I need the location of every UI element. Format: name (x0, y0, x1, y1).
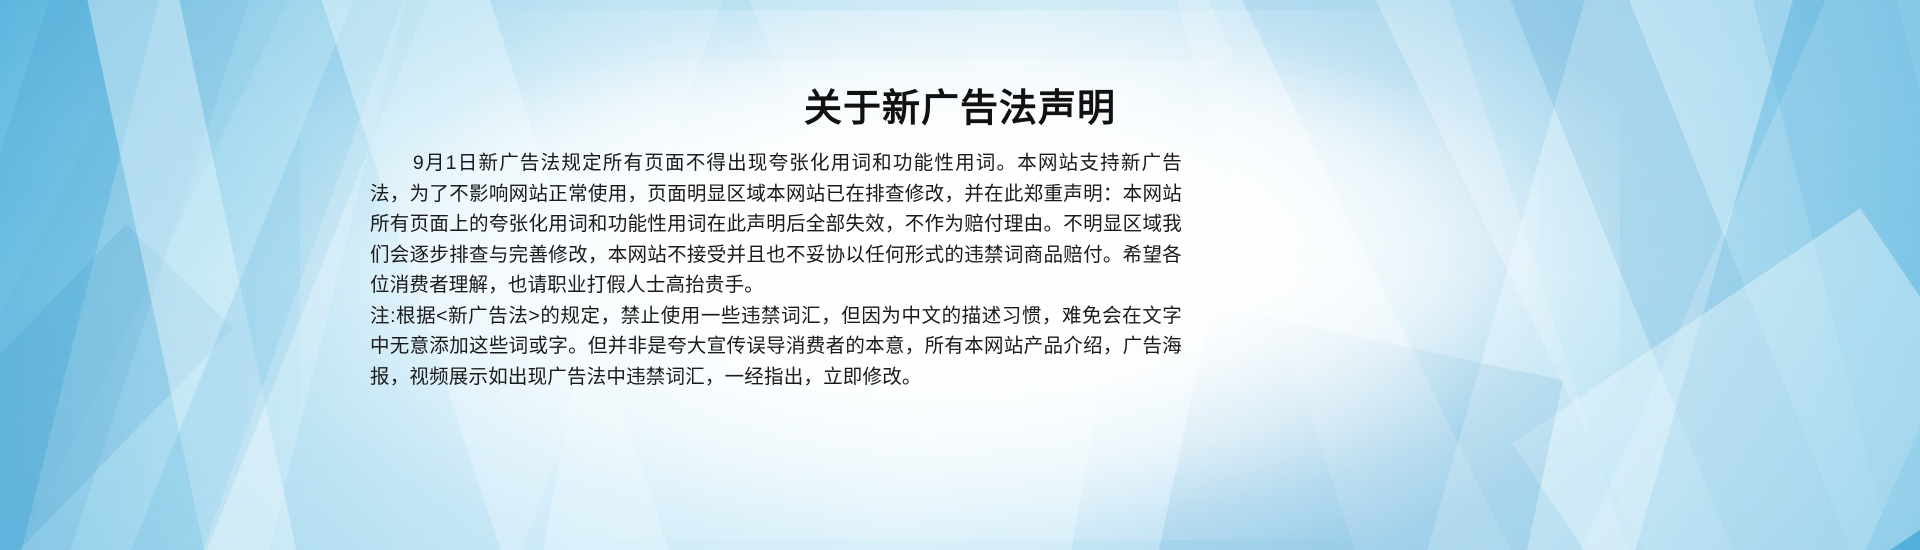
page-title: 关于新广告法声明 (0, 86, 1920, 132)
statement-body: 9月1日新广告法规定所有页面不得出现夸张化用词和功能性用词。本网站支持新广告法，… (370, 148, 1182, 392)
advertising-law-statement-banner: 关于新广告法声明 9月1日新广告法规定所有页面不得出现夸张化用词和功能性用词。本… (0, 0, 1920, 550)
statement-content: 关于新广告法声明 9月1日新广告法规定所有页面不得出现夸张化用词和功能性用词。本… (0, 0, 1920, 550)
statement-paragraph: 9月1日新广告法规定所有页面不得出现夸张化用词和功能性用词。本网站支持新广告法，… (370, 148, 1182, 301)
statement-note-paragraph: 注:根据<新广告法>的规定，禁止使用一些违禁词汇，但因为中文的描述习惯，难免会在… (370, 301, 1182, 393)
